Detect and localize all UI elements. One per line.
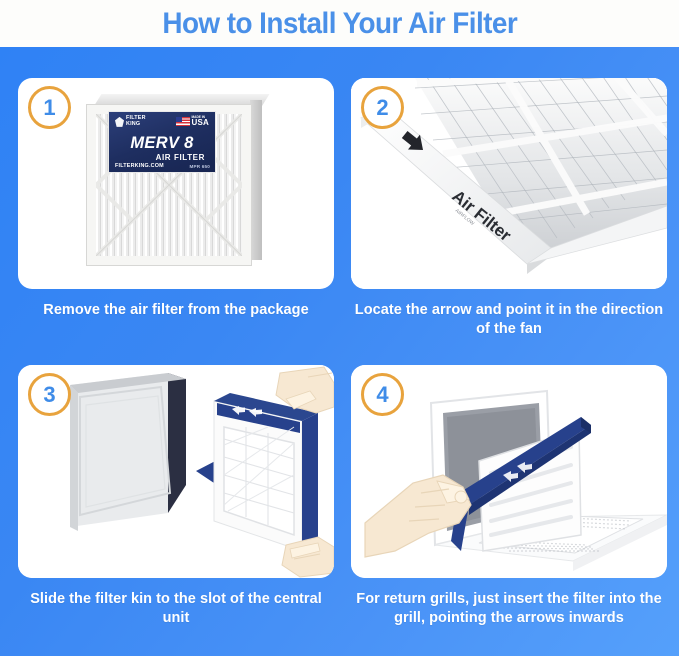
step-card-3: 3 Slide the filter kin to the slot of th… bbox=[18, 365, 334, 628]
step-card-4: 4 For return grills, just insert the fil… bbox=[351, 365, 667, 628]
step-number-4: 4 bbox=[376, 384, 388, 406]
country-text: USA bbox=[192, 119, 210, 127]
infographic-canvas: FILTER KING MADE IN USA bbox=[0, 47, 679, 656]
air-filter-product-photo: FILTER KING MADE IN USA bbox=[86, 94, 262, 266]
mpr-rating: MPR 650 bbox=[189, 164, 210, 169]
step-number-2: 2 bbox=[376, 97, 388, 119]
step-caption-2: Locate the arrow and point it in the dir… bbox=[351, 301, 667, 339]
step-caption-4: For return grills, just insert the filte… bbox=[351, 590, 667, 628]
filter-product-label: FILTER KING MADE IN USA bbox=[108, 111, 216, 173]
header-banner: How to Install Your Air Filter bbox=[0, 0, 679, 47]
page-title: How to Install Your Air Filter bbox=[162, 7, 517, 41]
brand-name: FILTER KING bbox=[126, 116, 146, 128]
step-number-1: 1 bbox=[43, 97, 55, 119]
made-in-usa-badge: MADE IN USA bbox=[176, 116, 210, 127]
steps-grid: FILTER KING MADE IN USA bbox=[0, 47, 679, 656]
step-4-image-card: 4 bbox=[351, 365, 667, 578]
step-number-badge-4: 4 bbox=[361, 373, 404, 416]
usa-flag-icon bbox=[176, 117, 190, 126]
step-number-badge-3: 3 bbox=[28, 373, 71, 416]
crown-icon bbox=[115, 117, 124, 127]
step-caption-3: Slide the filter kin to the slot of the … bbox=[18, 590, 334, 628]
central-unit-slot bbox=[70, 373, 186, 531]
merv-rating: MERV 8 bbox=[115, 135, 209, 152]
product-type: AIR FILTER bbox=[115, 153, 209, 162]
website-url: FILTERKING.COM bbox=[115, 163, 164, 169]
label-bottom-row: FILTERKING.COM MPR 650 bbox=[115, 163, 210, 169]
step-1-image-card: FILTER KING MADE IN USA bbox=[18, 78, 334, 289]
step-caption-1: Remove the air filter from the package bbox=[18, 301, 334, 320]
step-card-2: Air Filter AIRFLOW 2 Locate the arrow an… bbox=[351, 78, 667, 339]
step-2-image-card: Air Filter AIRFLOW 2 bbox=[351, 78, 667, 289]
step-3-image-card: 3 bbox=[18, 365, 334, 578]
step-number-badge-2: 2 bbox=[361, 86, 404, 129]
step-card-1: FILTER KING MADE IN USA bbox=[18, 78, 334, 320]
step-number-badge-1: 1 bbox=[28, 86, 71, 129]
step-number-3: 3 bbox=[43, 384, 55, 406]
filter-king-logo: FILTER KING bbox=[115, 116, 146, 128]
label-top-row: FILTER KING MADE IN USA bbox=[115, 116, 209, 128]
